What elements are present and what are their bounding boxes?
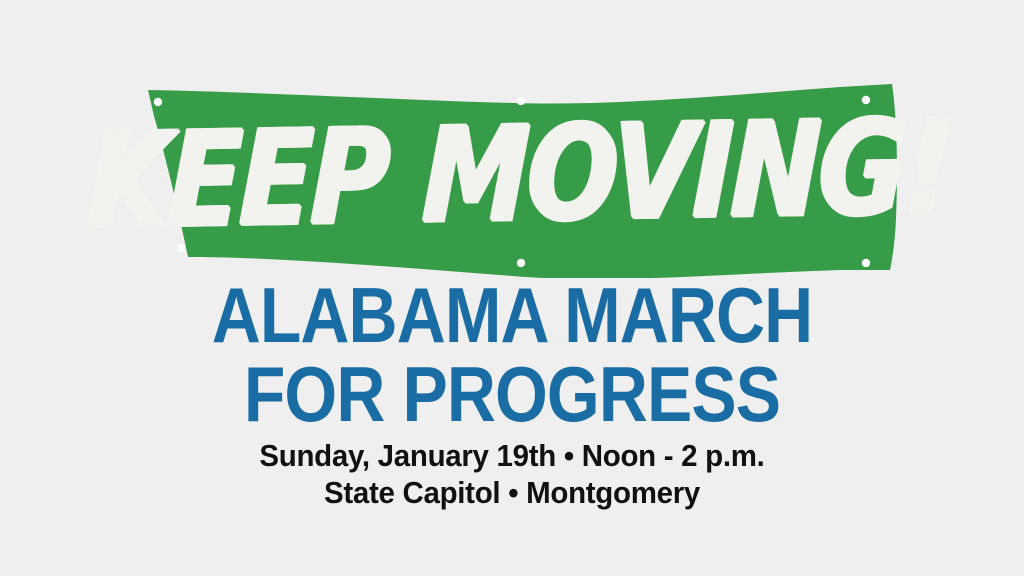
headline-line-1: ALABAMA MARCH: [67, 278, 958, 353]
grommet-top-right: [862, 96, 870, 104]
grommet-bottom-right: [862, 259, 870, 267]
keep-moving-banner: KEEP MOVING!: [140, 78, 900, 278]
grommet-top-left: [154, 98, 162, 106]
headline-line-2: FOR PROGRESS: [67, 357, 958, 432]
page-title: ALABAMA MARCH FOR PROGRESS: [0, 278, 1024, 432]
banner-body: [148, 84, 897, 278]
grommet-bottom-center: [517, 259, 525, 267]
event-location: State Capitol • Montgomery: [26, 475, 999, 512]
event-date-time: Sunday, January 19th • Noon - 2 p.m.: [26, 438, 999, 475]
grommet-top-center: [517, 97, 525, 105]
banner-shape: [140, 78, 900, 278]
event-poster: KEEP MOVING! ALABAMA MARCH FOR PROGRESS …: [0, 0, 1024, 576]
event-details: Sunday, January 19th • Noon - 2 p.m. Sta…: [0, 438, 1024, 511]
grommet-bottom-left: [177, 244, 185, 252]
